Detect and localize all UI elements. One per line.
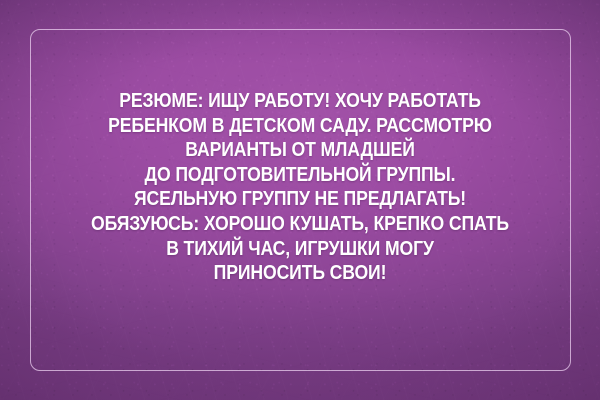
quote-card: РЕЗЮМЕ: ИЩУ РАБОТУ! ХОЧУ РАБОТАТЬ РЕБЕНК… (0, 0, 600, 400)
quote-text-block: РЕЗЮМЕ: ИЩУ РАБОТУ! ХОЧУ РАБОТАТЬ РЕБЕНК… (30, 28, 570, 370)
quote-line: В ТИХИЙ ЧАС, ИГРУШКИ МОГУ (68, 237, 532, 262)
quote-line: ВАРИАНТЫ ОТ МЛАДШЕЙ (68, 138, 532, 163)
quote-line: ОБЯЗУЮСЬ: ХОРОШО КУШАТЬ, КРЕПКО СПАТЬ (68, 212, 532, 237)
quote-line: РЕБЕНКОМ В ДЕТСКОМ САДУ. РАССМОТРЮ (68, 114, 532, 139)
quote-line: ЯСЕЛЬНУЮ ГРУППУ НЕ ПРЕДЛАГАТЬ! (68, 187, 532, 212)
quote-line: ПРИНОСИТЬ СВОИ! (68, 261, 532, 286)
quote-line: РЕЗЮМЕ: ИЩУ РАБОТУ! ХОЧУ РАБОТАТЬ (68, 89, 532, 114)
quote-line: ДО ПОДГОТОВИТЕЛЬНОЙ ГРУППЫ. (68, 163, 532, 188)
